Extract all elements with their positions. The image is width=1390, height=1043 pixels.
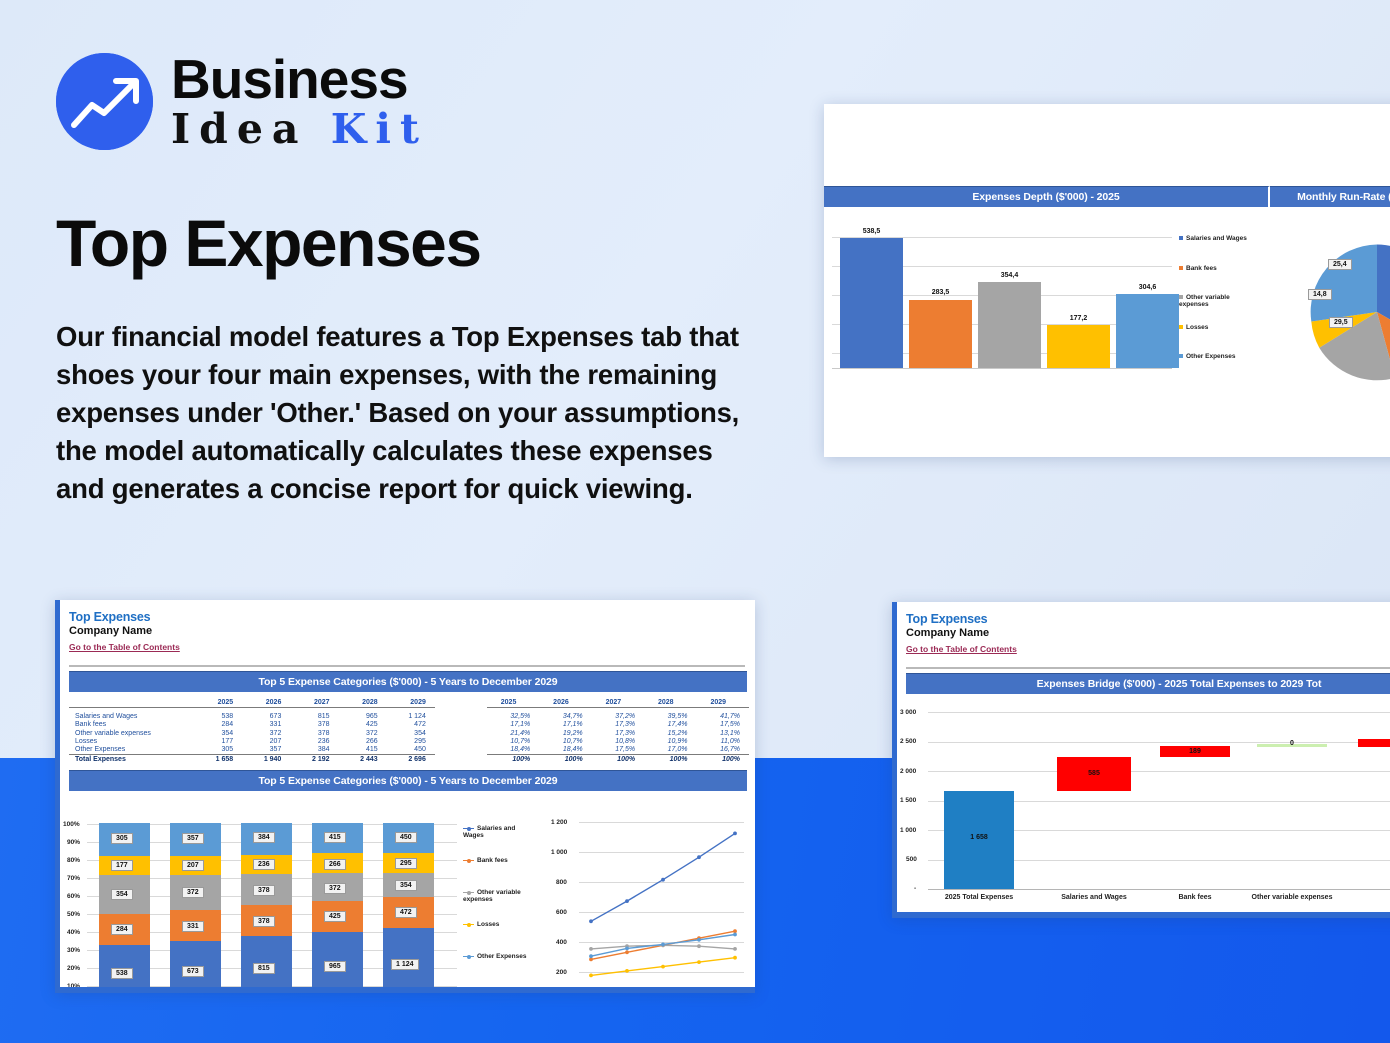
col-header-2027: 2027: [290, 698, 338, 707]
stack-value-label: 266: [324, 859, 346, 870]
cell-pct: 10,7%: [487, 737, 539, 745]
cell-pct: 17,5%: [592, 746, 644, 755]
stacked-bar-and-line-charts[interactable]: 0% 10% 20% 30% 40% 50% 60% 70% 80% 90% 1…: [55, 791, 755, 993]
band-monthly-run-rate: Monthly Run-Rate ($'000: [1270, 186, 1390, 207]
cell-value: 415: [339, 746, 387, 755]
cell-pct: 17,4%: [644, 721, 696, 729]
stack-value-label: 177: [111, 860, 133, 871]
x-tick-label: Bank fees: [1158, 894, 1232, 901]
table-of-contents-link[interactable]: Go to the Table of Contents: [906, 644, 1017, 654]
cell-value: 965: [339, 712, 387, 720]
cell-pct: 15,2%: [644, 729, 696, 737]
cell-pct: 11,0%: [696, 737, 749, 745]
expenses-depth-chart[interactable]: 538,5 283,5 354,4 177,2 304,6 Salaries a…: [824, 207, 1390, 402]
stack-value-label: 372: [182, 887, 204, 898]
screenshot-panel-top-5-expense-categories[interactable]: Top Expenses Company Name Go to the Tabl…: [55, 600, 755, 993]
stack-value-label: 284: [111, 924, 133, 935]
cell-pct: 32,5%: [487, 712, 539, 720]
pct-header-2025: 2025: [487, 698, 539, 707]
sheet-title: Top Expenses: [69, 610, 743, 624]
table-of-contents-link[interactable]: Go to the Table of Contents: [69, 642, 180, 652]
cell-value: 372: [242, 729, 290, 737]
brand-logo: Business Idea Kit: [56, 52, 428, 150]
cell-value: 425: [339, 721, 387, 729]
stack-value-label: 357: [182, 833, 204, 844]
y-tick-label: 40%: [67, 929, 80, 936]
stack-value-label: 207: [182, 860, 204, 871]
table-row[interactable]: Bank fees 284 331 378 425 472 17,1% 17,1…: [69, 721, 749, 729]
cell-pct: 39,5%: [644, 712, 696, 720]
cell-value: 384: [290, 746, 338, 755]
waterfall-value-label: 189: [1160, 748, 1230, 755]
y-tick-label: 90%: [67, 839, 80, 846]
legend-item-salaries[interactable]: Salaries and Wages: [1179, 235, 1259, 242]
y-tick-label: 1 500: [900, 797, 916, 804]
table-total-row: Total Expenses 1 658 1 940 2 192 2 443 2…: [69, 755, 749, 764]
total-value: 1 940: [242, 755, 290, 764]
total-value: 1 658: [194, 755, 242, 764]
bar-salaries-and-wages[interactable]: [840, 238, 903, 368]
screenshot-panel-expenses-depth[interactable]: Expenses Depth ($'000) - 2025 Monthly Ru…: [824, 104, 1390, 457]
bar-value-label: 283,5: [909, 289, 972, 296]
legend-label: Bank fees: [477, 857, 508, 864]
legend-item-other-variable[interactable]: Other variable expenses: [1179, 294, 1259, 309]
legend-item-other-expenses[interactable]: Other Expenses: [1179, 353, 1259, 360]
pie-value-label: 29,5: [1329, 317, 1353, 328]
pct-header-2026: 2026: [539, 698, 591, 707]
pie-value-label: 14,8: [1308, 289, 1332, 300]
legend-item-bank-fees[interactable]: Bank fees: [1179, 265, 1259, 272]
bar-value-label: 304,6: [1116, 284, 1179, 291]
y-tick-label: 20%: [67, 965, 80, 972]
y-tick-label: 1 000: [900, 827, 916, 834]
legend-item-losses[interactable]: Losses: [463, 921, 531, 928]
legend-label: Other Expenses: [477, 953, 527, 960]
stack-value-label: 236: [253, 859, 275, 870]
waterfall-value-label: 1 658: [944, 834, 1014, 841]
x-tick-label: Losses: [1362, 894, 1390, 901]
expense-trend-line-chart[interactable]: 1 200 1 000 800 600 400 200 -: [545, 791, 750, 993]
y-tick-label: 50%: [67, 911, 80, 918]
pct-header-2028: 2028: [644, 698, 696, 707]
col-header-2025: 2025: [194, 698, 242, 707]
legend-item-bank-fees[interactable]: Bank fees: [463, 857, 531, 864]
cell-pct: 17,1%: [539, 721, 591, 729]
row-label: Bank fees: [69, 721, 194, 729]
total-pct: 100%: [487, 755, 539, 764]
brand-idea: Idea: [171, 105, 331, 153]
page-description: Our financial model features a Top Expen…: [56, 318, 756, 508]
page-title: Top Expenses: [56, 205, 481, 281]
y-tick-label: 100%: [63, 821, 80, 828]
cell-value: 354: [194, 729, 242, 737]
table-row[interactable]: Salaries and Wages 538 673 815 965 1 124…: [69, 712, 749, 720]
stack-value-label: 415: [324, 832, 346, 843]
cell-pct: 21,4%: [487, 729, 539, 737]
y-tick-label: 30%: [67, 947, 80, 954]
total-pct: 100%: [644, 755, 696, 764]
total-pct: 100%: [539, 755, 591, 764]
cell-value: 331: [242, 721, 290, 729]
stack-value-label: 305: [111, 833, 133, 844]
pie-value-label: 25,4: [1328, 259, 1352, 270]
band-expenses-depth: Expenses Depth ($'000) - 2025: [824, 186, 1270, 207]
cell-pct: 16,7%: [696, 746, 749, 755]
stack-value-label: 295: [395, 858, 417, 869]
cell-value: 354: [387, 729, 435, 737]
legend-item-other-expenses[interactable]: Other Expenses: [463, 953, 531, 960]
bar-value-label: 177,2: [1047, 315, 1110, 322]
total-pct: 100%: [696, 755, 749, 764]
legend-label: Salaries and Wages: [1186, 235, 1247, 242]
bar-other-expenses[interactable]: [1116, 294, 1179, 368]
waterfall-value-label: 585: [1057, 770, 1131, 777]
total-label: Total Expenses: [69, 755, 194, 764]
row-label: Salaries and Wages: [69, 712, 194, 720]
table-row[interactable]: Other variable expenses 354 372 378 372 …: [69, 729, 749, 737]
cell-value: 815: [290, 712, 338, 720]
y-tick-label: 60%: [67, 893, 80, 900]
cell-value: 472: [387, 721, 435, 729]
band-expenses-bridge-title: Expenses Bridge ($'000) - 2025 Total Exp…: [906, 673, 1390, 694]
cell-pct: 17,5%: [696, 721, 749, 729]
bar-other-variable-expenses[interactable]: [978, 282, 1041, 368]
pct-header-2029: 2029: [696, 698, 749, 707]
legend-label: Losses: [477, 921, 499, 928]
cell-value: 450: [387, 746, 435, 755]
x-tick-label: Other variable expenses: [1242, 894, 1342, 901]
brand-kit: Kit: [331, 105, 428, 153]
stack-value-label: 450: [395, 832, 417, 843]
stack-value-label: 378: [253, 885, 275, 896]
cell-value: 372: [339, 729, 387, 737]
stack-value-label: 425: [324, 911, 346, 922]
brand-name-line2: Idea Kit: [171, 109, 428, 150]
cell-pct: 37,2%: [592, 712, 644, 720]
row-label: Losses: [69, 737, 194, 745]
pct-header-2027: 2027: [592, 698, 644, 707]
bar-value-label: 354,4: [978, 272, 1041, 279]
legend-item-losses[interactable]: Losses: [1179, 324, 1259, 331]
bar-bank-fees[interactable]: [909, 300, 972, 369]
y-tick-label: -: [914, 885, 916, 892]
total-value: 2 696: [387, 755, 435, 764]
legend-label: Other Expenses: [1186, 353, 1236, 360]
cell-pct: 17,3%: [592, 729, 644, 737]
legend-item-other-variable[interactable]: Other variable expenses: [463, 889, 531, 904]
sheet-title: Top Expenses: [906, 612, 1390, 626]
col-header-2026: 2026: [242, 698, 290, 707]
stack-value-label: 354: [111, 889, 133, 900]
cell-pct: 18,4%: [539, 746, 591, 755]
panel-footer-band: [55, 987, 755, 993]
sheet-header: Top Expenses Company Name Go to the Tabl…: [892, 602, 1390, 661]
stack-value-label: 372: [324, 883, 346, 894]
stack-value-label: 331: [182, 921, 204, 932]
cell-value: 378: [290, 729, 338, 737]
y-tick-label: 70%: [67, 875, 80, 882]
cell-value: 266: [339, 737, 387, 745]
stack-value-label: 538: [111, 968, 133, 979]
waterfall-bar-losses[interactable]: [1358, 739, 1390, 747]
x-tick-label: Salaries and Wages: [1050, 894, 1138, 901]
panel-footer-band: [892, 912, 1390, 918]
cell-pct: 41,7%: [696, 712, 749, 720]
total-value: 2 443: [339, 755, 387, 764]
band-chart-title: Top 5 Expense Categories ($'000) - 5 Yea…: [69, 770, 747, 791]
cell-value: 284: [194, 721, 242, 729]
x-tick-label: 2025 Total Expenses: [932, 894, 1026, 901]
screenshot-panel-expenses-bridge[interactable]: Top Expenses Company Name Go to the Tabl…: [892, 602, 1390, 918]
col-header-2029: 2029: [387, 698, 435, 707]
cell-pct: 17,0%: [644, 746, 696, 755]
expense-table[interactable]: 2025 2026 2027 2028 2029 2025 2026 2027 …: [55, 692, 755, 766]
stack-value-label: 354: [395, 880, 417, 891]
stack-value-label: 472: [395, 907, 417, 918]
sheet-company-name: Company Name: [906, 627, 1390, 639]
col-header-2028: 2028: [339, 698, 387, 707]
sheet-header: Top Expenses Company Name Go to the Tabl…: [55, 600, 755, 659]
expenses-bridge-waterfall-chart[interactable]: 3 000 2 500 2 000 1 500 1 000 500 - 1 65…: [892, 694, 1390, 909]
bar-losses[interactable]: [1047, 325, 1110, 368]
y-tick-label: 2 000: [900, 768, 916, 775]
cell-value: 378: [290, 721, 338, 729]
cell-pct: 10,7%: [539, 737, 591, 745]
stack-value-label: 965: [324, 961, 346, 972]
brand-name-line1: Business: [171, 52, 428, 107]
stack-value-label: 1 124: [391, 959, 419, 970]
cell-value: 305: [194, 746, 242, 755]
bar-value-label: 538,5: [840, 228, 903, 235]
panel-top-bands: Expenses Depth ($'000) - 2025 Monthly Ru…: [824, 186, 1390, 207]
cell-pct: 13,1%: [696, 729, 749, 737]
sheet-company-name: Company Name: [69, 625, 743, 637]
row-label: Other Expenses: [69, 746, 194, 755]
cell-pct: 18,4%: [487, 746, 539, 755]
y-tick-label: 2 500: [900, 738, 916, 745]
legend-label: Bank fees: [1186, 265, 1217, 272]
band-table-title: Top 5 Expense Categories ($'000) - 5 Yea…: [69, 671, 747, 692]
y-tick-label: 3 000: [900, 709, 916, 716]
stack-value-label: 378: [253, 916, 275, 927]
cell-value: 1 124: [387, 712, 435, 720]
cell-pct: 10,8%: [592, 737, 644, 745]
cell-pct: 34,7%: [539, 712, 591, 720]
cell-value: 295: [387, 737, 435, 745]
legend-label: Losses: [1186, 324, 1208, 331]
table-header-row: 2025 2026 2027 2028 2029 2025 2026 2027 …: [69, 698, 749, 707]
table-row[interactable]: Other Expenses 305 357 384 415 450 18,4%…: [69, 746, 749, 755]
cell-value: 673: [242, 712, 290, 720]
table-row[interactable]: Losses 177 207 236 266 295 10,7% 10,7% 1…: [69, 737, 749, 745]
cell-value: 207: [242, 737, 290, 745]
row-label: Other variable expenses: [69, 729, 194, 737]
total-pct: 100%: [592, 755, 644, 764]
legend-label: Other variable expenses: [1179, 294, 1230, 308]
cell-pct: 17,3%: [592, 721, 644, 729]
cell-pct: 19,2%: [539, 729, 591, 737]
y-tick-label: 80%: [67, 857, 80, 864]
legend-item-salaries[interactable]: Salaries and Wages: [463, 825, 531, 840]
y-tick-label: 500: [906, 856, 917, 863]
stack-value-label: 384: [253, 832, 275, 843]
stack-value-label: 673: [182, 966, 204, 977]
waterfall-value-label: 0: [1257, 740, 1327, 747]
growth-arrow-icon: [56, 53, 153, 150]
cell-pct: 17,1%: [487, 721, 539, 729]
cell-value: 236: [290, 737, 338, 745]
total-value: 2 192: [290, 755, 338, 764]
stack-value-label: 815: [253, 963, 275, 974]
cell-value: 538: [194, 712, 242, 720]
cell-value: 177: [194, 737, 242, 745]
cell-pct: 10,9%: [644, 737, 696, 745]
cell-value: 357: [242, 746, 290, 755]
